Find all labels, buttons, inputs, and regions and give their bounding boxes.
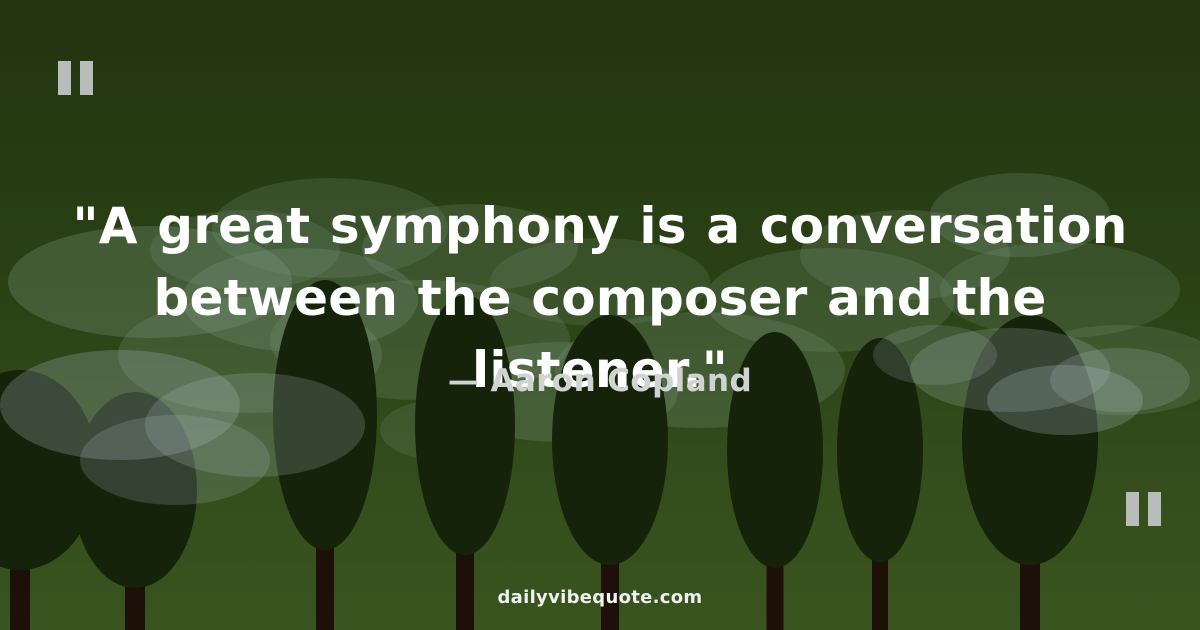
quote-bar-left	[1126, 492, 1139, 526]
close-quote-mark-icon	[1126, 492, 1161, 526]
quote-bar-right	[80, 61, 93, 95]
quote-bar-right	[1148, 492, 1161, 526]
quote-bar-left	[58, 61, 71, 95]
quote-author: — Aaron Copland	[40, 363, 1160, 399]
open-quote-mark-icon	[58, 61, 93, 95]
website-attribution[interactable]: dailyvibequote.com	[0, 587, 1200, 608]
mist-blob	[80, 415, 270, 505]
quote-card: "A great symphony is a conversation betw…	[0, 0, 1200, 630]
